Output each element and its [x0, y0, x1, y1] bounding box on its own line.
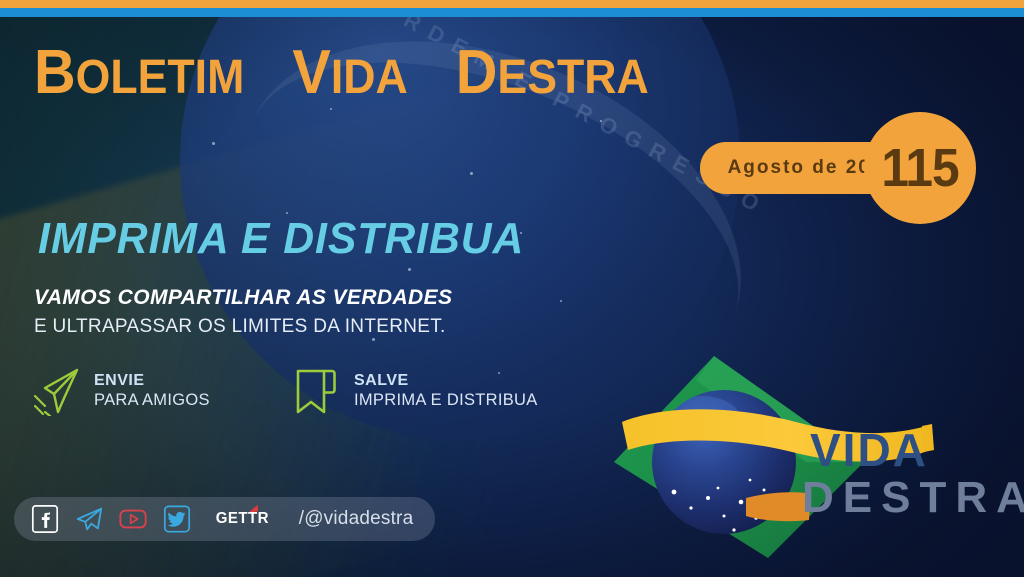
facebook-icon[interactable] — [30, 504, 60, 534]
twitter-icon[interactable] — [162, 504, 192, 534]
social-links-bar[interactable]: GETTR /@vidadestra — [14, 497, 435, 541]
bookmark-save-icon — [292, 366, 340, 416]
issue-number-label: 115 — [881, 137, 958, 199]
action-item-salve: SALVE IMPRIMA E DISTRIBUA — [292, 366, 538, 416]
title-word-vida: VIDA — [292, 38, 407, 107]
title-cap-d: D — [456, 38, 498, 107]
action-salve-title: SALVE — [354, 372, 538, 391]
logo-word-vida: VIDA — [810, 424, 928, 476]
paper-plane-send-icon — [32, 366, 80, 416]
brand-logo-graphic: VIDA DESTRA — [596, 340, 1024, 577]
action-item-envie: ENVIE PARA AMIGOS — [32, 366, 210, 416]
title-space-2 — [424, 38, 440, 107]
action-envie-subtitle: PARA AMIGOS — [94, 391, 210, 410]
title-space — [260, 38, 276, 107]
subheading-light: E ULTRAPASSAR OS LIMITES DA INTERNET. — [34, 316, 446, 338]
title-cap-v: V — [292, 38, 330, 107]
action-salve-subtitle: IMPRIMA E DISTRIBUA — [354, 391, 538, 410]
title-word-destra: DESTRA — [456, 38, 649, 107]
poster-canvas: ORDEM E PROGRESSO BOLETIM VIDA DESTRA Ag… — [0, 0, 1024, 577]
social-handle[interactable]: /@vidadestra — [299, 508, 414, 530]
brand-logo: VIDA DESTRA — [596, 340, 1024, 577]
subheading-bold: VAMOS COMPARTILHAR AS VERDADES — [34, 286, 452, 310]
top-blue-stripe — [0, 8, 1024, 17]
title-cap-b: B — [34, 38, 76, 107]
telegram-icon[interactable] — [74, 504, 104, 534]
gettr-label: GETTR — [216, 510, 269, 527]
action-envie-text: ENVIE PARA AMIGOS — [94, 372, 210, 410]
action-envie-title: ENVIE — [94, 372, 210, 391]
title-rest-oletim: OLETIM — [76, 51, 245, 104]
page-title: BOLETIM VIDA DESTRA — [34, 42, 649, 104]
title-rest-ida: IDA — [331, 51, 408, 104]
title-word-boletim: BOLETIM — [34, 38, 244, 107]
title-rest-estra: ESTRA — [497, 51, 648, 104]
top-orange-stripe — [0, 0, 1024, 8]
issue-number-badge: 115 — [864, 112, 976, 224]
logo-word-destra: DESTRA — [802, 473, 1024, 522]
gettr-logo[interactable]: GETTR — [216, 510, 269, 528]
youtube-icon[interactable] — [118, 504, 148, 534]
headline: IMPRIMA E DISTRIBUA — [38, 214, 524, 264]
action-salve-text: SALVE IMPRIMA E DISTRIBUA — [354, 372, 538, 410]
